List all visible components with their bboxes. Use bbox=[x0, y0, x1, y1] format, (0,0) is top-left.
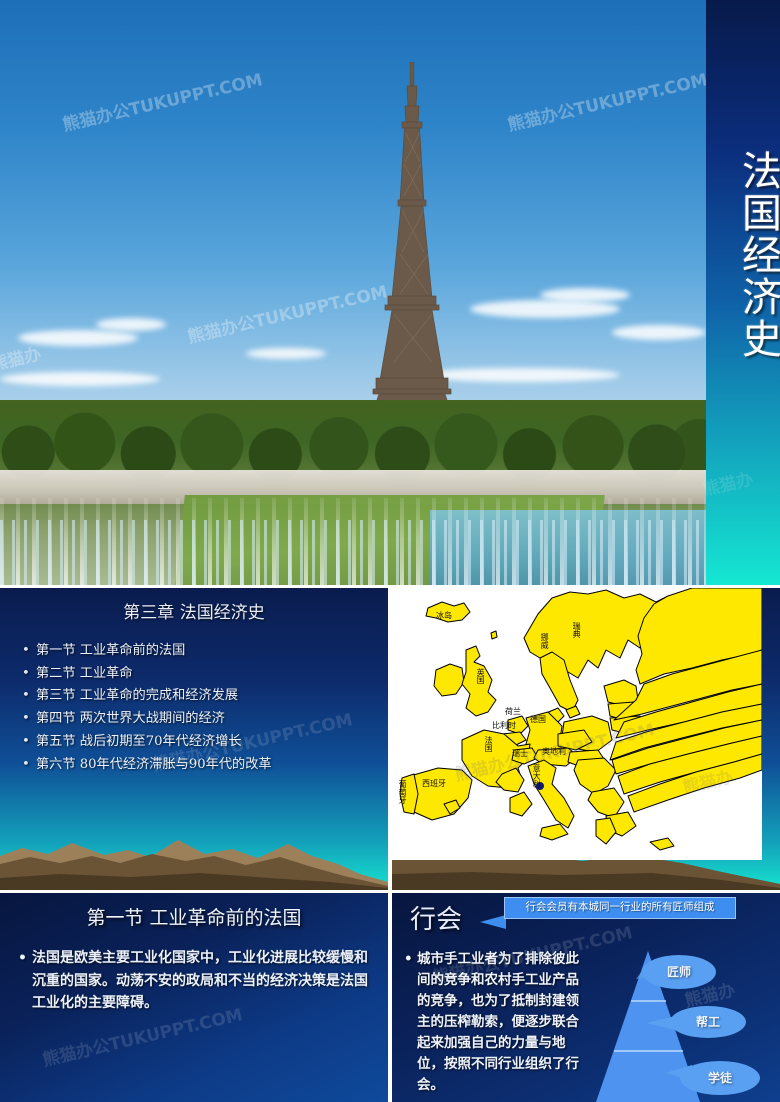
cloud-icon bbox=[18, 330, 138, 346]
bullet-icon: • bbox=[22, 731, 36, 754]
map-label: 法国 bbox=[484, 736, 492, 752]
cloud-icon bbox=[470, 300, 620, 318]
map-label: 德国 bbox=[530, 716, 546, 724]
slide-section-one: 第一节 工业革命前的法国 • 法国是欧美主要工业化国家中，工业化进展比较缓慢和沉… bbox=[0, 893, 388, 1102]
page-title: 第一节 工业革命前的法国 bbox=[0, 903, 388, 930]
pyramid-level-label: 匠师 bbox=[642, 955, 716, 989]
pyramid-level-label: 帮工 bbox=[670, 1006, 746, 1038]
slide-europe-map: 冰岛 挪威 瑞典 英国 荷兰 比利时 德国 法国 瑞士 奥地利 意大利 西班牙 … bbox=[392, 588, 780, 890]
map-label: 瑞士 bbox=[512, 750, 528, 758]
cloud-icon bbox=[540, 288, 630, 302]
map-label: 冰岛 bbox=[436, 612, 452, 620]
mountain-graphic bbox=[0, 830, 388, 890]
map-label: 英国 bbox=[476, 668, 484, 684]
section-body-text: 法国是欧美主要工业化国家中，工业化进展比较缓慢和沉重的国家。动荡不安的政局和不当… bbox=[32, 947, 370, 1015]
guild-body-text: 城市手工业者为了排除彼此间的竞争和农村手工业产品的竞争，也为了抵制封建领主的压榨… bbox=[417, 949, 582, 1095]
bullet-icon: • bbox=[404, 949, 417, 970]
list-item[interactable]: •第五节 战后初期至70年代经济增长 bbox=[22, 731, 378, 754]
map-label: 葡萄牙 bbox=[398, 780, 406, 804]
list-item[interactable]: •第四节 两次世界大战期间的经济 bbox=[22, 708, 378, 731]
list-item[interactable]: •第三节 工业革命的完成和经济发展 bbox=[22, 685, 378, 708]
cloud-icon bbox=[612, 325, 706, 340]
list-item[interactable]: •第一节 工业革命前的法国 bbox=[22, 640, 378, 663]
map-canvas: 冰岛 挪威 瑞典 英国 荷兰 比利时 德国 法国 瑞士 奥地利 意大利 西班牙 … bbox=[392, 588, 762, 860]
bullet-icon: • bbox=[22, 663, 36, 686]
title-side-panel: 法国经济史 熊猫办 bbox=[706, 0, 780, 585]
cloud-icon bbox=[96, 318, 166, 331]
toc-item-label: 第三节 工业革命的完成和经济发展 bbox=[36, 688, 238, 703]
map-label: 荷兰 bbox=[505, 708, 521, 716]
map-label: 挪威 bbox=[540, 633, 548, 649]
guild-title: 行会 bbox=[410, 899, 462, 936]
toc-item-label: 第六节 80年代经济滞胀与90年代的改革 bbox=[36, 757, 272, 772]
toc-title: 第三章 法国经济史 bbox=[0, 598, 388, 623]
eiffel-tower-photo: 熊猫办公TUKUPPT.COM 熊猫办公TUKUPPT.COM 熊猫办 熊猫办公… bbox=[0, 0, 706, 585]
cloud-icon bbox=[0, 372, 160, 386]
map-label: 奥地利 bbox=[542, 748, 566, 756]
guild-body: • 城市手工业者为了排除彼此间的竞争和农村手工业产品的竞争，也为了抵制封建领主的… bbox=[404, 949, 582, 1095]
toc-item-label: 第二节 工业革命 bbox=[36, 666, 133, 681]
map-label: 比利时 bbox=[492, 722, 516, 730]
bullet-icon: • bbox=[22, 685, 36, 708]
map-label: 意大利 bbox=[532, 764, 540, 788]
callout-box: 行会会员有本城同一行业的所有匠师组成 bbox=[504, 897, 736, 919]
watermark: 熊猫办 bbox=[700, 465, 755, 501]
toc-item-label: 第一节 工业革命前的法国 bbox=[36, 643, 185, 658]
map-label: 瑞典 bbox=[572, 622, 580, 638]
bullet-icon: • bbox=[22, 754, 36, 777]
cloud-icon bbox=[246, 348, 326, 359]
map-label: 西班牙 bbox=[422, 780, 446, 788]
toc-list: •第一节 工业革命前的法国 •第二节 工业革命 •第三节 工业革命的完成和经济发… bbox=[22, 640, 378, 776]
fountain-jets-secondary bbox=[0, 520, 706, 585]
list-item[interactable]: •第二节 工业革命 bbox=[22, 663, 378, 686]
list-item[interactable]: •第六节 80年代经济滞胀与90年代的改革 bbox=[22, 754, 378, 777]
presentation-title: 法国经济史 bbox=[706, 150, 780, 360]
bullet-icon: • bbox=[18, 947, 32, 970]
pyramid-level-label: 学徒 bbox=[680, 1061, 760, 1095]
slide-deck-page: 熊猫办公TUKUPPT.COM 熊猫办公TUKUPPT.COM 熊猫办 熊猫办公… bbox=[0, 0, 780, 1102]
toc-item-label: 第四节 两次世界大战期间的经济 bbox=[36, 711, 225, 726]
callout-tail-icon bbox=[480, 915, 506, 929]
slide-table-of-contents: 第三章 法国经济史 •第一节 工业革命前的法国 •第二节 工业革命 •第三节 工… bbox=[0, 588, 388, 890]
toc-item-label: 第五节 战后初期至70年代经济增长 bbox=[36, 734, 242, 749]
bullet-icon: • bbox=[22, 708, 36, 731]
bullet-icon: • bbox=[22, 640, 36, 663]
section-body: • 法国是欧美主要工业化国家中，工业化进展比较缓慢和沉重的国家。动荡不安的政局和… bbox=[18, 947, 370, 1015]
slide-title-photo: 熊猫办公TUKUPPT.COM 熊猫办公TUKUPPT.COM 熊猫办 熊猫办公… bbox=[0, 0, 780, 585]
slide-guild: 行会 行会会员有本城同一行业的所有匠师组成 • 城市手工业者为了排除彼此间的竞争… bbox=[392, 893, 780, 1102]
